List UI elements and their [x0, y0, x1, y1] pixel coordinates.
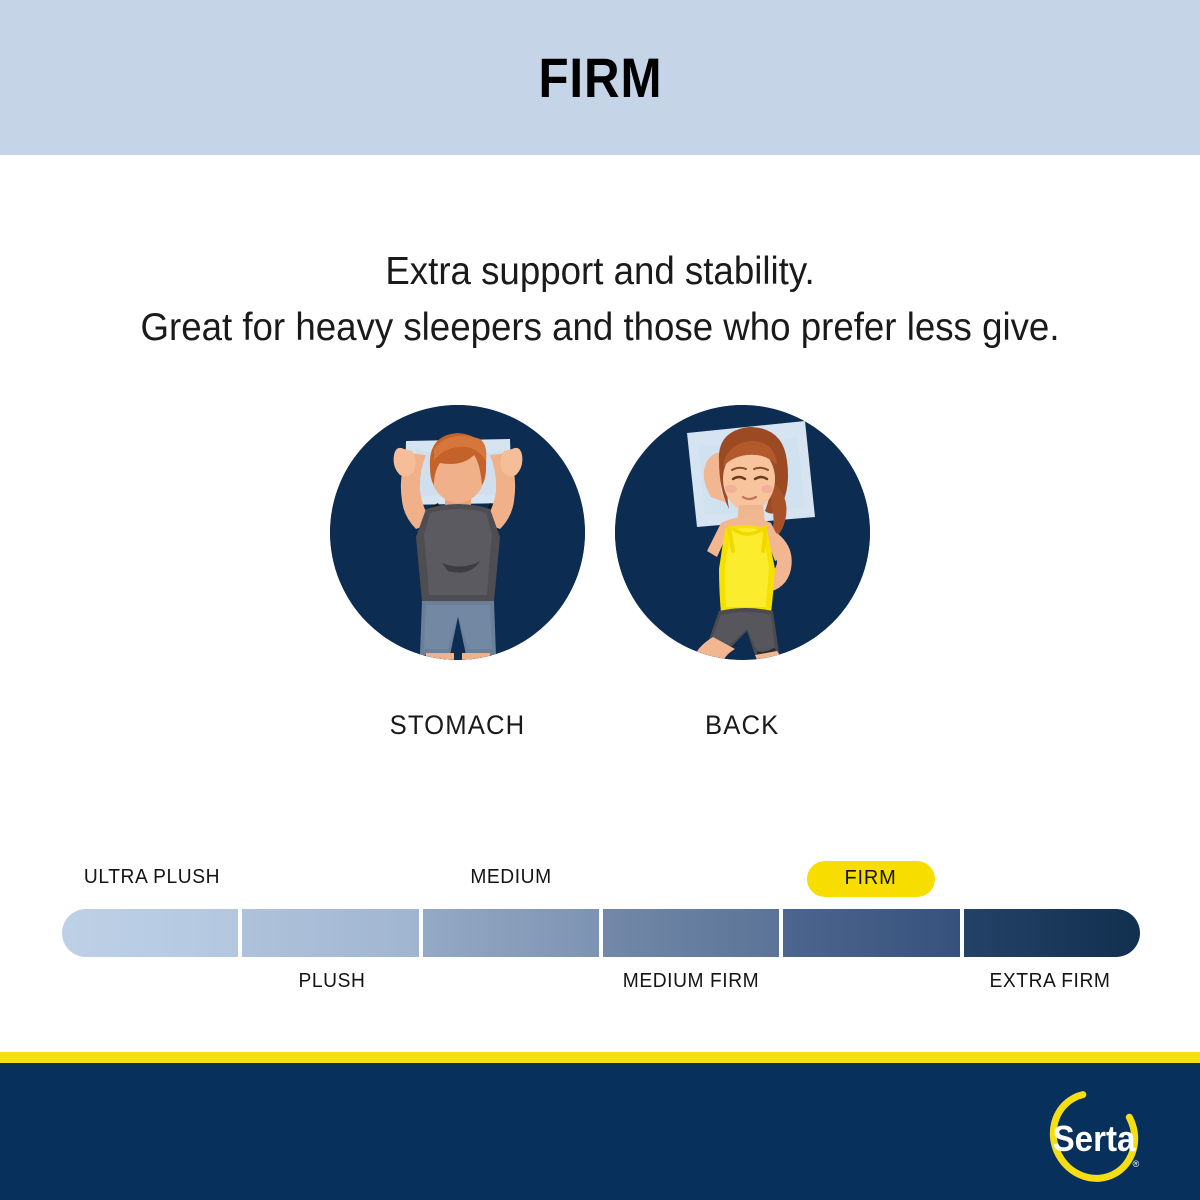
- scale-segment[interactable]: [62, 909, 242, 957]
- registered-mark: ®: [1133, 1159, 1140, 1169]
- header-band: FIRM: [0, 0, 1200, 155]
- scale-selected-badge[interactable]: FIRM: [806, 861, 934, 897]
- scale-segment[interactable]: [423, 909, 603, 957]
- sleep-positions: STOMACH: [0, 405, 1200, 741]
- scale-label-ultra-plush[interactable]: ULTRA PLUSH: [84, 866, 220, 889]
- position-label-back: BACK: [705, 710, 779, 741]
- serta-logo: Serta ®: [1040, 1089, 1152, 1185]
- scale-label-plush[interactable]: PLUSH: [298, 970, 365, 993]
- scale-segment[interactable]: [242, 909, 422, 957]
- position-card-stomach: STOMACH: [325, 405, 590, 741]
- serta-wordmark: Serta: [1053, 1120, 1137, 1160]
- scale-bar: [62, 909, 1140, 957]
- position-card-back: BACK: [610, 405, 875, 741]
- back-sleeper-icon: [615, 405, 870, 660]
- scale-segment[interactable]: [964, 909, 1140, 957]
- footer-band: Serta ®: [0, 1063, 1200, 1200]
- scale-labels-bottom: PLUSHMEDIUM FIRMEXTRA FIRM: [62, 970, 1140, 1000]
- scale-label-extra-firm[interactable]: EXTRA FIRM: [990, 970, 1111, 993]
- stomach-sleeper-icon: [330, 405, 585, 660]
- description-line-1: Extra support and stability.: [36, 244, 1164, 300]
- scale-segment[interactable]: [783, 909, 963, 957]
- scale-labels-top: ULTRA PLUSHMEDIUMFIRM: [62, 866, 1140, 896]
- scale-label-medium[interactable]: MEDIUM: [470, 866, 551, 889]
- description-line-2: Great for heavy sleepers and those who p…: [36, 300, 1164, 356]
- page-title: FIRM: [538, 45, 662, 110]
- description-block: Extra support and stability. Great for h…: [0, 244, 1200, 356]
- firmness-scale: ULTRA PLUSHMEDIUMFIRM PLUSHMEDIUM FIRMEX…: [62, 866, 1140, 1006]
- position-label-stomach: STOMACH: [390, 710, 526, 741]
- scale-segment[interactable]: [603, 909, 783, 957]
- footer-accent-stripe: [0, 1052, 1200, 1063]
- scale-label-medium-firm[interactable]: MEDIUM FIRM: [623, 970, 759, 993]
